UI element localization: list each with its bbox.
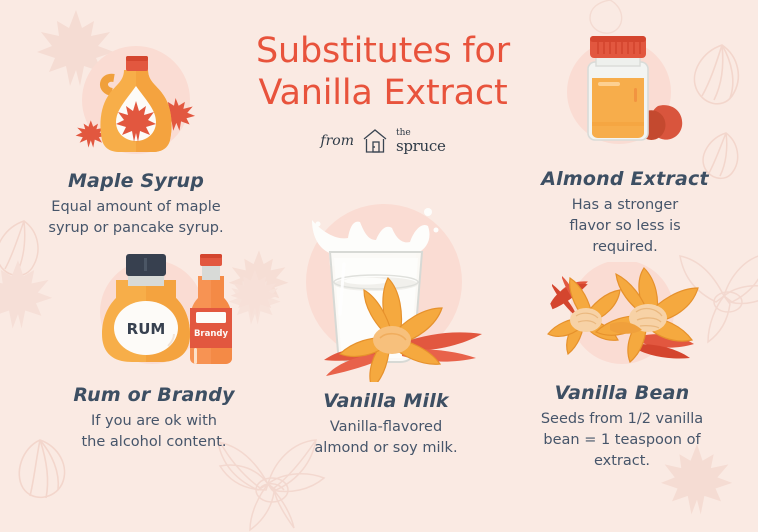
item-description: Vanilla-flavored almond or soy milk. bbox=[276, 417, 496, 459]
house-icon bbox=[361, 127, 389, 155]
item-vanilla-bean: Vanilla Bean Seeds from 1/2 vanilla bean… bbox=[506, 262, 738, 472]
rum-bottle-label: RUM bbox=[127, 320, 166, 338]
item-rum-or-brandy: RUM Brandy Rum or Brandy If you are ok w… bbox=[40, 252, 268, 453]
item-vanilla-milk: Vanilla Milk Vanilla-flavored almond or … bbox=[276, 196, 496, 459]
item-title: Maple Syrup bbox=[22, 170, 250, 192]
almond-extract-illustration bbox=[512, 30, 738, 162]
item-title: Rum or Brandy bbox=[40, 384, 268, 406]
brand-wordmark: the spruce bbox=[396, 129, 446, 154]
vanilla-bean-illustration bbox=[506, 262, 738, 378]
item-description: Has a stronger flavor so less is require… bbox=[512, 195, 738, 258]
item-title: Almond Extract bbox=[512, 168, 738, 190]
item-maple-syrup: Maple Syrup Equal amount of maple syrup … bbox=[22, 42, 250, 239]
brand-spruce-label: spruce bbox=[396, 139, 446, 154]
item-description: Equal amount of maple syrup or pancake s… bbox=[22, 197, 250, 239]
maple-syrup-illustration bbox=[22, 42, 250, 164]
item-title: Vanilla Milk bbox=[276, 390, 496, 412]
almond-outline-watermark bbox=[588, 0, 628, 34]
header: Substitutes for Vanilla Extract from the… bbox=[238, 30, 528, 155]
brand-logo: from the spruce bbox=[238, 127, 528, 155]
item-description: Seeds from 1/2 vanilla bean = 1 teaspoon… bbox=[506, 409, 738, 472]
rum-brandy-illustration: RUM Brandy bbox=[40, 252, 268, 378]
item-description: If you are ok with the alcohol content. bbox=[40, 411, 268, 453]
brandy-bottle-label: Brandy bbox=[194, 329, 229, 339]
vanilla-milk-illustration bbox=[276, 196, 496, 386]
brand-from-label: from bbox=[320, 133, 354, 149]
page-title: Substitutes for Vanilla Extract bbox=[238, 30, 528, 114]
item-title: Vanilla Bean bbox=[506, 382, 738, 404]
item-almond-extract: Almond Extract Has a stronger flavor so … bbox=[512, 30, 738, 258]
